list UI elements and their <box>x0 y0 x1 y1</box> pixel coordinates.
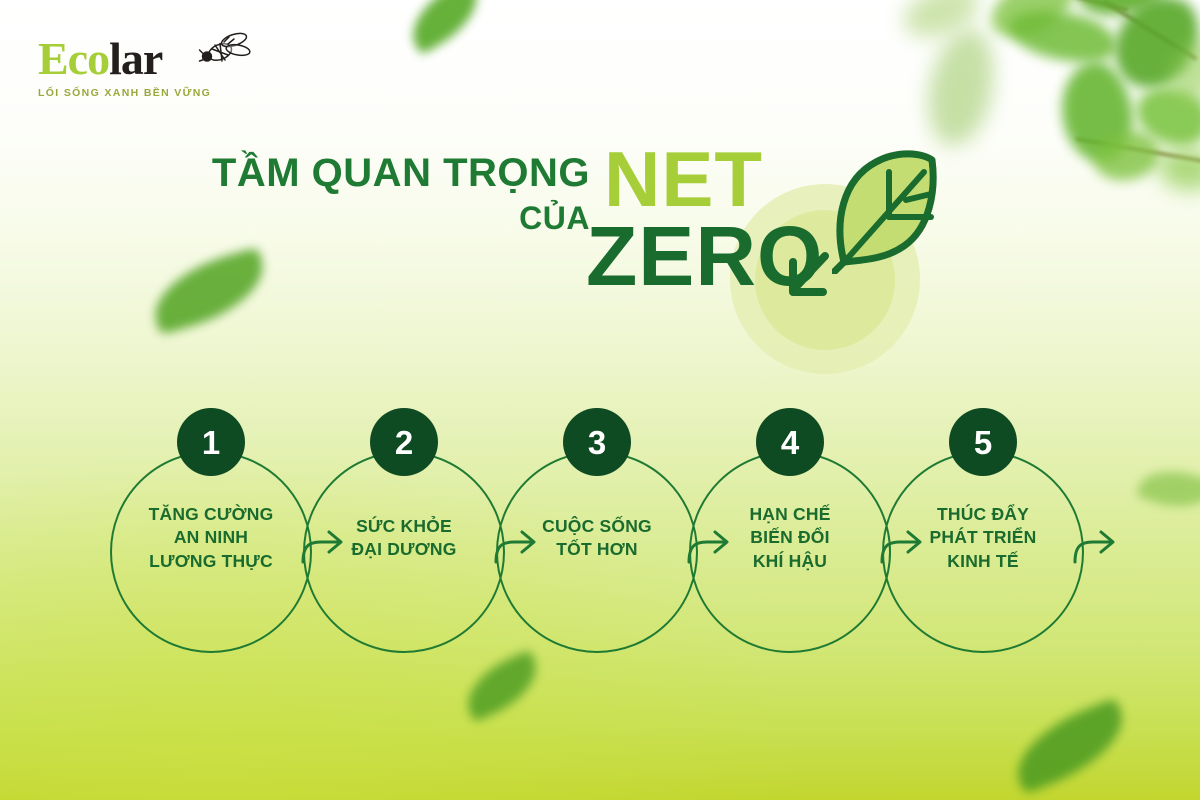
page-title: TẦM QUAN TRỌNG CỦA <box>170 152 590 237</box>
step-number-4: 4 <box>781 426 799 459</box>
step-badge-4[interactable]: 4 <box>756 408 824 476</box>
leaf-icon <box>832 150 938 274</box>
steps-row: 1 TĂNG CƯỜNG AN NINH LƯƠNG THỰC 2 SỨC KH… <box>0 398 1200 668</box>
step-badge-2[interactable]: 2 <box>370 408 438 476</box>
logo-word-lar: lar <box>109 33 162 84</box>
arrow-down-left-icon <box>775 240 847 312</box>
floating-leaf-decoration <box>1004 698 1136 795</box>
headline-line-2: CỦA <box>170 200 590 237</box>
step-label-4: HẠN CHẾ BIẾN ĐỔI KHÍ HẬU <box>695 503 885 573</box>
logo-tagline: LỐI SỐNG XANH BỀN VỮNG <box>38 87 238 99</box>
infographic-canvas: Ecolar LỐI SỐNG XANH BỀN VỮNG TẦM QUAN T… <box>0 0 1200 800</box>
netzero-word-net: NET <box>604 140 763 218</box>
step-badge-5[interactable]: 5 <box>949 408 1017 476</box>
step-label-5: THÚC ĐẨY PHÁT TRIỂN KINH TẾ <box>888 503 1078 573</box>
brand-logo[interactable]: Ecolar LỐI SỐNG XANH BỀN VỮNG <box>38 36 238 116</box>
step-number-3: 3 <box>588 426 606 459</box>
floating-leaf-decoration <box>399 0 490 55</box>
step-badge-1[interactable]: 1 <box>177 408 245 476</box>
net-zero-lockup: NET ZERO <box>580 136 980 366</box>
step-label-3: CUỘC SỐNG TỐT HƠN <box>502 515 692 562</box>
step-number-2: 2 <box>395 426 413 459</box>
bee-icon <box>198 28 262 70</box>
step-number-5: 5 <box>974 426 992 459</box>
step-label-1: TĂNG CƯỜNG AN NINH LƯƠNG THỰC <box>116 503 306 573</box>
step-label-2: SỨC KHỎE ĐẠI DƯƠNG <box>309 515 499 562</box>
logo-word-eco: Eco <box>38 33 109 84</box>
headline-line-1: TẦM QUAN TRỌNG <box>170 152 590 194</box>
floating-leaf-decoration <box>144 247 273 335</box>
step-badge-3[interactable]: 3 <box>563 408 631 476</box>
step-number-1: 1 <box>202 426 220 459</box>
